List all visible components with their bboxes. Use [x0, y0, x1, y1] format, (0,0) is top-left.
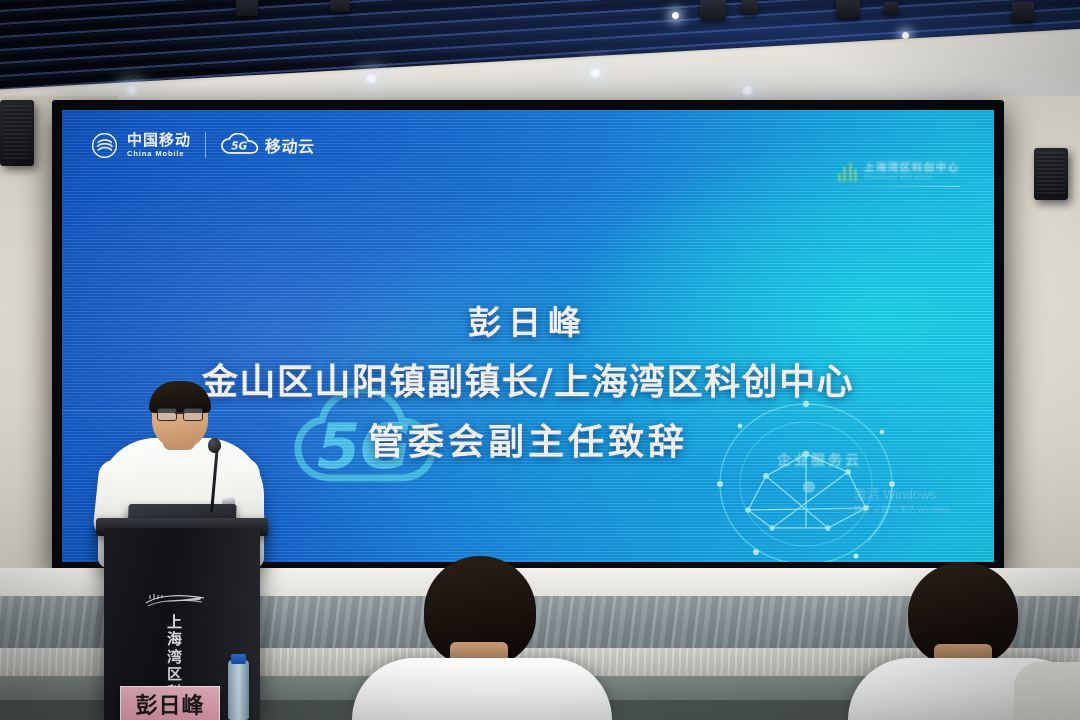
presenter-glasses-icon [157, 408, 203, 419]
recessed-downlight [364, 74, 379, 84]
china-mobile-en: China Mobile [127, 150, 191, 158]
brand-lockup-left: 中国移动 China Mobile 5G 移动云 [92, 132, 315, 158]
ceiling-light-fixture [1012, 2, 1034, 22]
podium-char: 海 [160, 631, 190, 648]
ceiling-light-fixture [836, 0, 860, 18]
mobile-cloud-lockup: 5G 移动云 [220, 133, 315, 157]
microphone-icon [208, 438, 221, 453]
mobile-cloud-cn: 移动云 [265, 133, 315, 157]
bay-area-wave-icon [144, 592, 206, 610]
name-card: 彭日峰 [120, 686, 220, 720]
partner-logo-rule [840, 186, 960, 187]
bar-chart-mark-icon [838, 162, 858, 182]
podium-char: 上 [160, 614, 190, 631]
watermark-line1: 激活 Windows [854, 486, 958, 504]
partner-en: SHANGHAI BAY AREA [864, 176, 960, 182]
podium-char: 区 [160, 666, 190, 683]
wall-speaker-right [1034, 148, 1068, 200]
water-bottle-icon [228, 660, 249, 720]
china-mobile-cn: 中国移动 [127, 133, 191, 148]
partner-wordmark: 上海湾区科创中心 SHANGHAI BAY AREA [864, 163, 960, 182]
speaker-name-heading: 彭日峰 [62, 296, 994, 344]
cloud-5g-icon: 5G [220, 133, 260, 157]
ceiling-light-fixture [700, 0, 726, 20]
ceiling-light-fixture [884, 2, 898, 14]
svg-text:5G: 5G [231, 140, 247, 153]
watermark-line2: 转到"设置"以激活 Windows。 [854, 505, 958, 516]
windows-activation-watermark: 激活 Windows 转到"设置"以激活 Windows。 [854, 486, 958, 516]
conference-photo-scene: 5G [0, 0, 1080, 720]
recessed-downlight [740, 86, 755, 96]
name-card-label: 彭日峰 [135, 688, 204, 720]
ceiling-light-fixture [330, 0, 350, 12]
foreground-cloth [1014, 662, 1080, 720]
podium-char: 湾 [160, 649, 190, 666]
ceiling-light-fixture [236, 0, 258, 16]
recessed-downlight [124, 86, 139, 96]
china-mobile-wordmark: 中国移动 China Mobile [127, 133, 191, 158]
brand-lockup-right: 上海湾区科创中心 SHANGHAI BAY AREA [838, 162, 961, 182]
logo-divider [205, 132, 206, 158]
water-bottle-cap [231, 654, 246, 664]
audience-shirt [352, 658, 612, 720]
partner-cn: 上海湾区科创中心 [864, 163, 960, 174]
ceiling-light-fixture [742, 0, 758, 14]
wall-speaker-left [0, 100, 34, 166]
ceiling-spotlight [672, 12, 679, 19]
audience-member-left [352, 550, 612, 720]
recessed-downlight [588, 68, 603, 78]
china-mobile-mark-icon [92, 133, 117, 158]
